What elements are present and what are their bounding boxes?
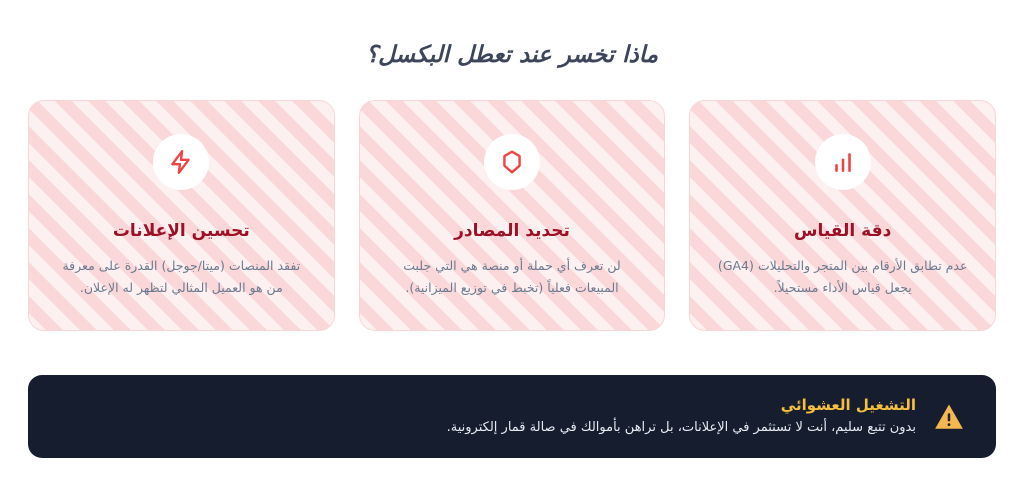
feature-cards-row: دقة القياس عدم تطابق الأرقام بين المتجر … — [28, 100, 996, 331]
warning-banner: التشغيل العشوائي بدون تتبع سليم، أنت لا … — [28, 375, 996, 458]
card-title: تحديد المصادر — [454, 221, 570, 241]
icon-badge — [815, 134, 871, 190]
card-description: عدم تطابق الأرقام بين المتجر والتحليلات … — [718, 255, 968, 299]
page-title: ماذا تخسر عند تعطل البكسل؟ — [28, 0, 996, 67]
feature-card-measurement-accuracy: دقة القياس عدم تطابق الأرقام بين المتجر … — [689, 100, 996, 331]
card-description: تفقد المنصات (ميتا/جوجل) القدرة على معرف… — [56, 255, 306, 299]
icon-badge — [484, 134, 540, 190]
card-description: لن تعرف أي حملة أو منصة هي التي جلبت الم… — [387, 255, 637, 299]
hexagon-icon — [499, 149, 525, 175]
warning-banner-title: التشغيل العشوائي — [781, 396, 916, 414]
zap-icon — [168, 149, 194, 175]
warning-triangle-icon — [932, 400, 966, 434]
bar-chart-icon — [830, 149, 856, 175]
card-title: تحسين الإعلانات — [113, 221, 250, 241]
warning-banner-text: التشغيل العشوائي بدون تتبع سليم، أنت لا … — [447, 396, 916, 437]
feature-card-source-attribution: تحديد المصادر لن تعرف أي حملة أو منصة هي… — [359, 100, 666, 331]
card-title: دقة القياس — [794, 221, 891, 241]
feature-card-ad-optimization: تحسين الإعلانات تفقد المنصات (ميتا/جوجل)… — [28, 100, 335, 331]
warning-banner-description: بدون تتبع سليم، أنت لا تستثمر في الإعلان… — [447, 419, 916, 437]
pixel-loss-section: ماذا تخسر عند تعطل البكسل؟ دقة القياس عد… — [0, 0, 1024, 484]
icon-badge — [153, 134, 209, 190]
